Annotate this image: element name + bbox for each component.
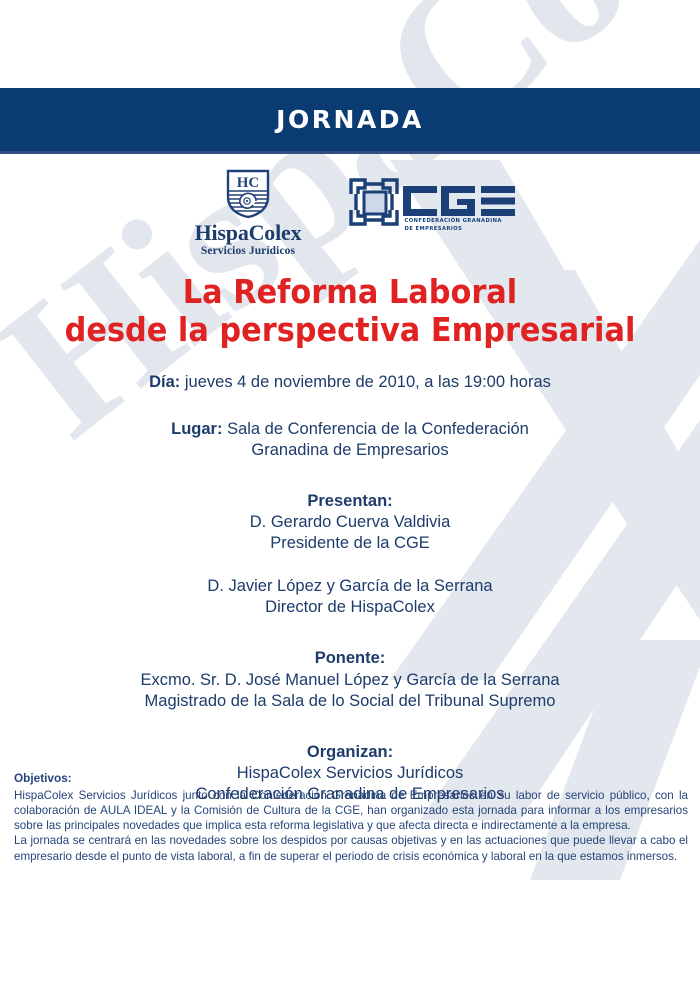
cge-wordmark: CONFEDERACIÓN GRANADINA DE EMPRESARIOS (403, 186, 515, 233)
hispacolex-logo: HC HispaColex Servicios Jurídicos (186, 169, 311, 257)
presenter-1-role: Presidente de la CGE (270, 534, 430, 552)
page-title: La Reforma Laboral desde la perspectiva … (28, 273, 672, 350)
date-value: jueves 4 de noviembre de 2010, a las 19:… (185, 373, 551, 391)
cge-letters-icon (403, 186, 515, 216)
speaker-name: Excmo. Sr. D. José Manuel López y García… (140, 671, 559, 689)
cge-logo: CONFEDERACIÓN GRANADINA DE EMPRESARIOS (347, 175, 515, 233)
poster-content: HC HispaColex Servicios Jurídicos (0, 151, 700, 805)
objectives-paragraph-1: HispaColex Servicios Jurídicos junto con… (14, 788, 688, 834)
banner-underline (0, 151, 700, 154)
cge-subtitle-line1: CONFEDERACIÓN GRANADINA (405, 218, 502, 224)
objectives-paragraph-2: La jornada se centrará en las novedades … (14, 833, 688, 864)
event-location-row: Lugar: Sala de Conferencia de la Confede… (0, 419, 700, 461)
logo-row: HC HispaColex Servicios Jurídicos (0, 169, 700, 261)
objectives-section: Objetivos: HispaColex Servicios Jurídico… (14, 771, 688, 864)
speaker-role: Magistrado de la Sala de lo Social del T… (145, 692, 556, 710)
svg-text:HC: HC (237, 175, 260, 191)
objectives-title: Objetivos: (14, 771, 688, 787)
presenter-1-name: D. Gerardo Cuerva Valdivia (250, 513, 451, 531)
date-label: Día: (149, 373, 180, 391)
banner-title: JORNADA (276, 105, 424, 134)
presenter-2-block: D. Javier López y García de la Serrana D… (0, 576, 700, 618)
location-value-line2: Granadina de Empresarios (251, 441, 448, 459)
presenter-2-name: D. Javier López y García de la Serrana (207, 577, 492, 595)
speaker-section: Ponente: Excmo. Sr. D. José Manuel López… (0, 648, 700, 711)
header-banner: JORNADA (0, 88, 700, 151)
hispacolex-subtitle: Servicios Jurídicos (201, 245, 295, 257)
cge-subtitle-line2: DE EMPRESARIOS (405, 226, 463, 232)
cge-subtitle: CONFEDERACIÓN GRANADINA DE EMPRESARIOS (405, 218, 515, 233)
title-line-2: desde la perspectiva Empresarial (28, 311, 672, 349)
location-value-line1: Sala de Conferencia de la Confederación (227, 420, 529, 438)
presenter-2-role: Director de HispaColex (265, 598, 435, 616)
title-line-1: La Reforma Laboral (28, 273, 672, 311)
location-label: Lugar: (171, 420, 222, 438)
presenters-label: Presentan: (0, 491, 700, 512)
shield-icon: HC (226, 169, 270, 219)
poster-page: HispaColex JORNADA (0, 0, 700, 990)
event-date-row: Día: jueves 4 de noviembre de 2010, a la… (0, 372, 700, 393)
presenters-section: Presentan: D. Gerardo Cuerva Valdivia Pr… (0, 491, 700, 554)
organizers-label: Organizan: (0, 742, 700, 763)
interlocking-squares-icon (347, 175, 401, 229)
speaker-label: Ponente: (0, 648, 700, 669)
hispacolex-name: HispaColex (195, 221, 302, 244)
